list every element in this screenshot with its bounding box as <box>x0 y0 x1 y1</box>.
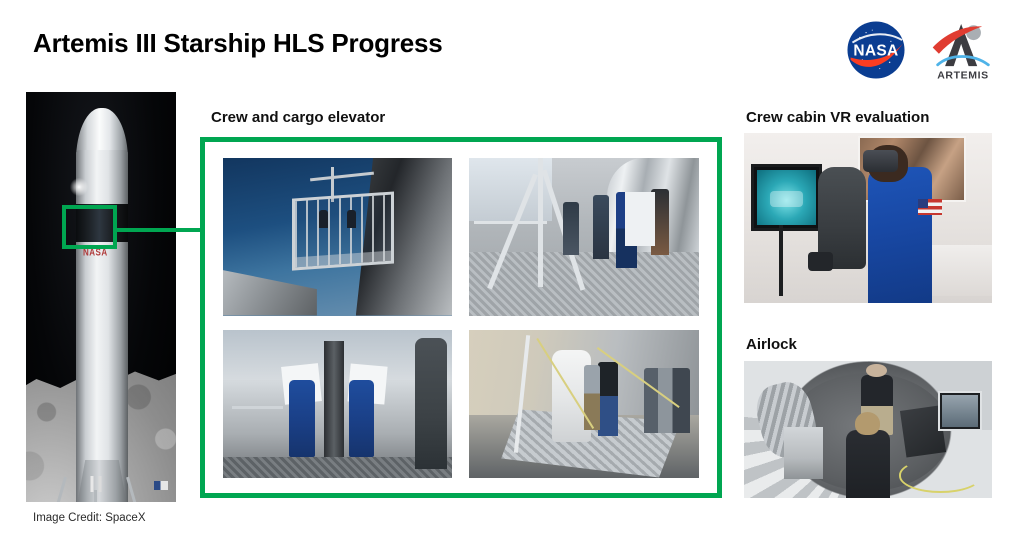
observer-group-right <box>644 368 690 433</box>
elevator-photo-grid <box>205 142 717 493</box>
engineer-foreground <box>846 430 891 499</box>
crew-cabin-vr-photo <box>744 133 992 303</box>
worker-figure-left <box>563 202 579 256</box>
slide-root: Artemis III Starship HLS Progress NASA A… <box>0 0 1015 555</box>
page-title: Artemis III Starship HLS Progress <box>33 28 443 59</box>
astronaut-figure <box>868 167 932 303</box>
white-panel <box>625 192 655 246</box>
section-heading-elevator: Crew and cargo elevator <box>211 109 385 126</box>
crew-cabin-callout-box <box>62 205 117 249</box>
crane-boom <box>310 172 374 182</box>
monitor-stand <box>779 225 783 296</box>
elevator-rig-column <box>324 341 345 456</box>
observer-figure <box>415 338 447 468</box>
yellow-cable <box>899 458 982 492</box>
crew-cabin-callout-connector <box>117 228 203 232</box>
surface-equipment <box>154 481 168 490</box>
airlock-mockup-photo <box>744 361 992 498</box>
worker-figure <box>319 210 328 228</box>
nasa-logo: NASA <box>845 19 907 81</box>
section-heading-vr: Crew cabin VR evaluation <box>746 109 929 126</box>
nasa-logo-wordmark: NASA <box>853 43 898 60</box>
starship-hls-render: NASA <box>26 92 176 502</box>
worker-figure <box>593 195 609 258</box>
vr-hand-controller <box>808 252 833 271</box>
elevator-cage <box>292 192 394 272</box>
elevator-platform-team-photo <box>469 158 699 316</box>
vr-headset <box>863 150 898 172</box>
table <box>932 245 992 296</box>
worker-figure <box>347 210 356 228</box>
section-heading-airlock: Airlock <box>746 336 797 353</box>
grated-deck <box>469 252 699 315</box>
image-credit: Image Credit: SpaceX <box>33 512 146 524</box>
railing <box>232 406 282 409</box>
light-glare <box>70 178 88 196</box>
astronaut-left <box>289 380 314 457</box>
astronaut-right <box>349 380 374 457</box>
vr-view-screen <box>757 170 815 225</box>
spacesuit-ramp-test-photo <box>469 330 699 478</box>
astronauts-elevator-test-photo <box>223 330 452 478</box>
artemis-logo: ARTEMIS <box>929 19 997 81</box>
logo-row: NASA ARTEMIS <box>845 20 997 80</box>
elevator-photo-panel <box>200 137 722 498</box>
elevator-cage-lift-photo <box>223 158 452 316</box>
starship-body <box>76 150 128 502</box>
display-monitor <box>751 164 821 231</box>
astronaut-figures <box>88 476 114 492</box>
laptop-monitor <box>938 391 982 431</box>
handrail <box>474 221 548 224</box>
equipment-cart <box>784 427 824 479</box>
us-flag-patch <box>918 199 943 214</box>
engineer-blue <box>598 362 619 436</box>
artemis-logo-wordmark: ARTEMIS <box>937 69 989 81</box>
